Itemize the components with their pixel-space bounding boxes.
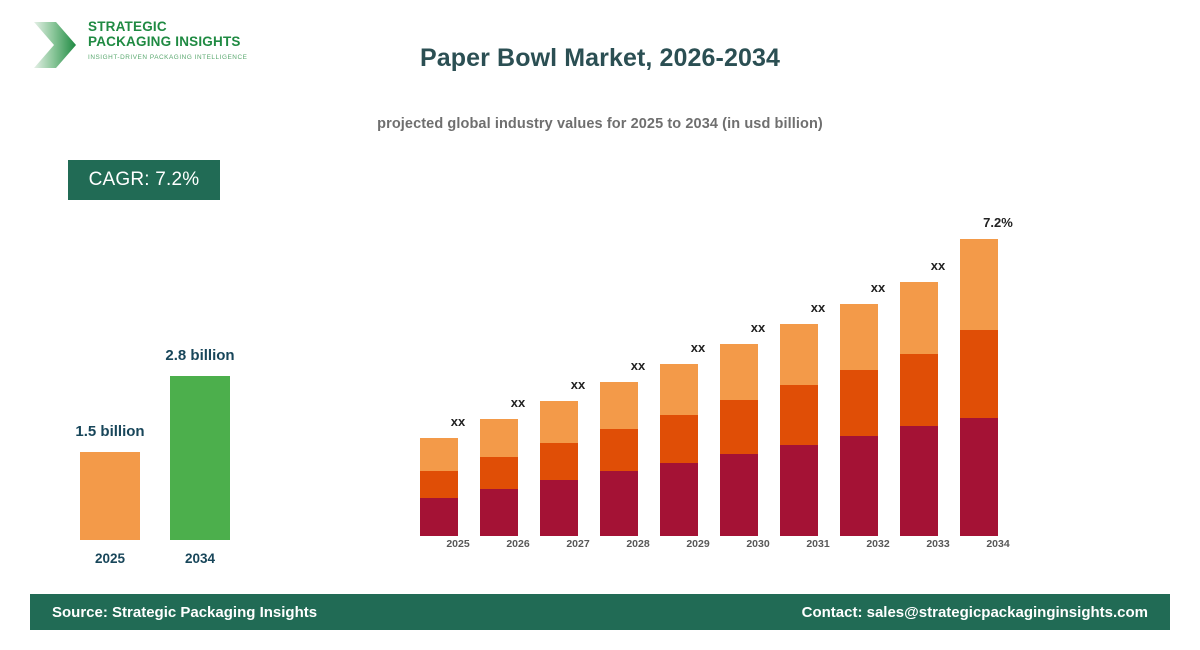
stacked-segment-top xyxy=(420,438,458,471)
market-size-comparison-chart: 1.5 billion20252.8 billion2034 xyxy=(50,300,300,570)
footer-source-text: Source: Strategic Packaging Insights xyxy=(52,594,317,630)
stacked-segment-top xyxy=(720,344,758,400)
cagr-badge: CAGR: 7.2% xyxy=(68,160,220,200)
stacked-segment-middle xyxy=(480,457,518,489)
stacked-bar xyxy=(480,419,518,536)
stacked-bar-top-label: 7.2% xyxy=(958,215,1038,230)
stacked-segment-middle xyxy=(420,471,458,498)
stacked-segment-middle xyxy=(780,385,818,445)
stacked-bar xyxy=(780,324,818,536)
segment-forecast-stacked-chart: xx2025xx2026xx2027xx2028xx2029xx2030xx20… xyxy=(405,0,1005,650)
stacked-segment-bottom xyxy=(780,445,818,536)
stacked-segment-top xyxy=(900,282,938,354)
stacked-segment-middle xyxy=(840,370,878,436)
cagr-badge-label: CAGR: 7.2% xyxy=(89,169,200,191)
brand-name-line1: STRATEGIC xyxy=(88,20,253,35)
compare-bar-x-label: 2034 xyxy=(155,551,245,566)
stacked-segment-top xyxy=(540,401,578,443)
stacked-bar xyxy=(600,382,638,536)
stacked-bar xyxy=(720,344,758,536)
stacked-segment-bottom xyxy=(660,463,698,536)
stacked-bar-x-label: 2034 xyxy=(958,538,1038,550)
stacked-segment-middle xyxy=(960,330,998,418)
footer-contact-text: Contact: sales@strategicpackaginginsight… xyxy=(802,594,1148,630)
compare-bar xyxy=(80,452,140,540)
stacked-segment-top xyxy=(840,304,878,370)
stacked-segment-bottom xyxy=(420,498,458,536)
stacked-segment-bottom xyxy=(840,436,878,536)
stacked-bar xyxy=(420,438,458,536)
chart-infographic-page: STRATEGIC PACKAGING INSIGHTS INSIGHT-DRI… xyxy=(0,0,1200,650)
stacked-segment-top xyxy=(780,324,818,385)
stacked-segment-middle xyxy=(720,400,758,454)
stacked-segment-middle xyxy=(900,354,938,426)
compare-bar-x-label: 2025 xyxy=(65,551,155,566)
stacked-segment-middle xyxy=(540,443,578,480)
stacked-segment-bottom xyxy=(540,480,578,536)
stacked-segment-top xyxy=(960,239,998,330)
stacked-bar xyxy=(900,282,938,536)
stacked-segment-top xyxy=(480,419,518,457)
stacked-bar xyxy=(540,401,578,536)
stacked-segment-middle xyxy=(600,429,638,471)
stacked-segment-bottom xyxy=(720,454,758,536)
stacked-segment-top xyxy=(600,382,638,429)
stacked-bar xyxy=(840,304,878,536)
footer-bar: Source: Strategic Packaging Insights Con… xyxy=(30,594,1170,630)
compare-bar xyxy=(170,376,230,540)
stacked-segment-middle xyxy=(660,415,698,463)
stacked-segment-bottom xyxy=(600,471,638,536)
compare-bar-value-label: 1.5 billion xyxy=(35,423,185,440)
stacked-segment-bottom xyxy=(480,489,518,536)
stacked-segment-bottom xyxy=(960,418,998,536)
compare-bar-value-label: 2.8 billion xyxy=(125,347,275,364)
stacked-segment-bottom xyxy=(900,426,938,536)
stacked-segment-top xyxy=(660,364,698,415)
stacked-bar xyxy=(660,364,698,536)
stacked-bar xyxy=(960,239,998,536)
